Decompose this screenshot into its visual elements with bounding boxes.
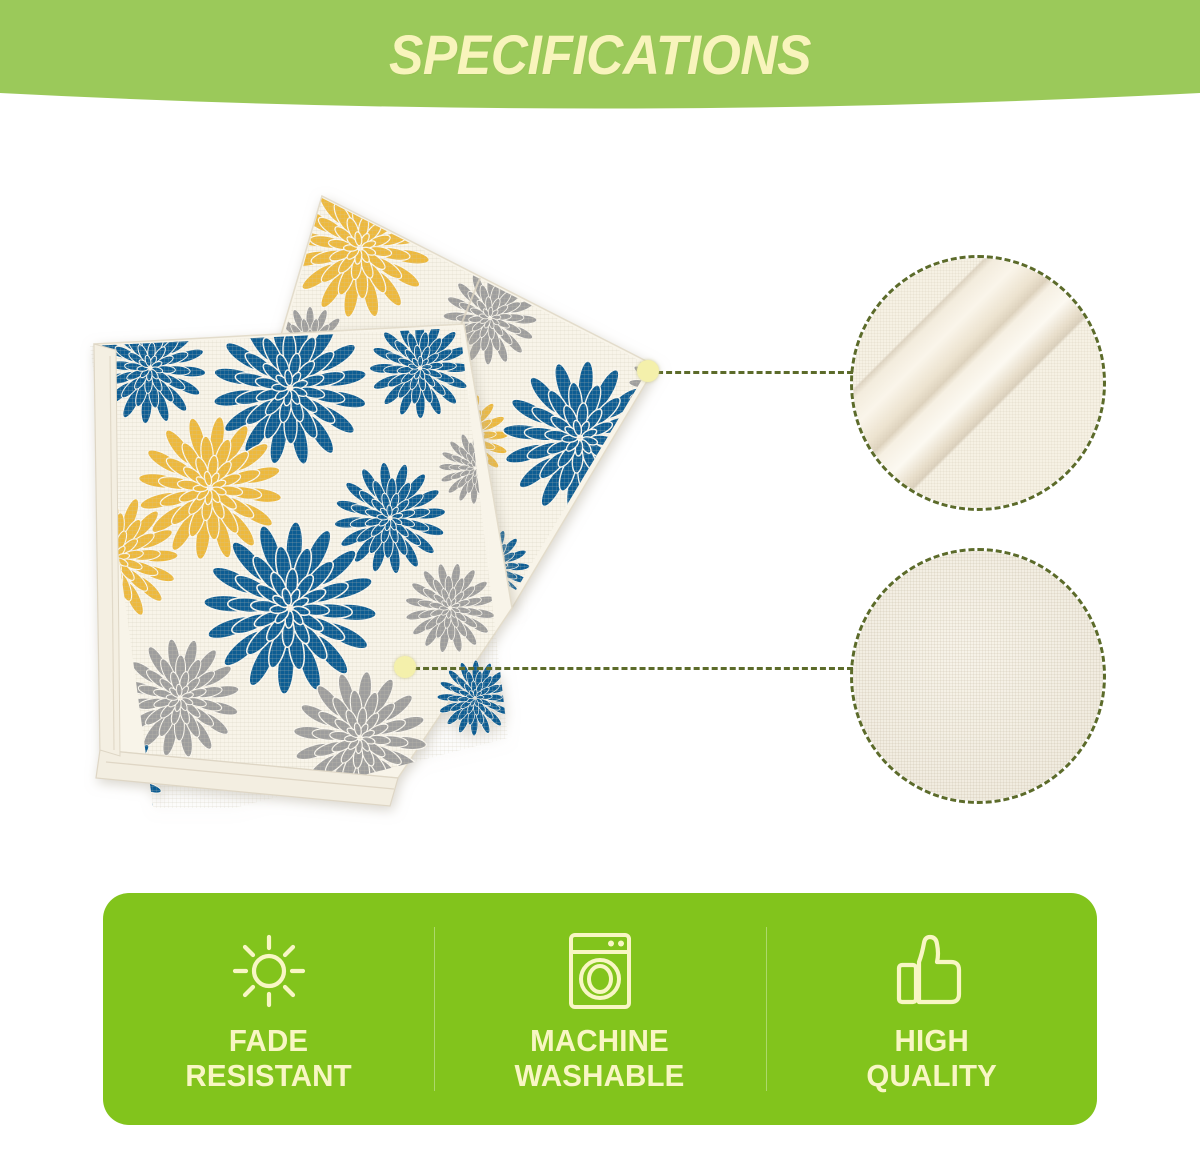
feature-panel: FADE RESISTANT MACHINE WASHABLE: [103, 893, 1097, 1125]
feature-label-line1: FADE: [185, 1024, 351, 1059]
product-photo-floral-towels: [60, 138, 760, 858]
callout-line-fabric: [405, 667, 853, 670]
header-banner: SPECIFICATIONS: [0, 0, 1200, 118]
washing-machine-icon: [567, 932, 633, 1010]
feature-label-line1: MACHINE: [515, 1024, 685, 1059]
callout-dot-hem: [637, 360, 659, 382]
feature-label-machine-washable: MACHINE WASHABLE: [515, 1024, 685, 1093]
page-title: SPECIFICATIONS: [48, 22, 1152, 87]
sun-icon: [230, 932, 308, 1010]
callout-line-hem: [648, 371, 853, 374]
detail-circle-fabric-weave: [850, 548, 1106, 804]
callout-dot-fabric: [394, 656, 416, 678]
feature-label-line2: QUALITY: [866, 1059, 997, 1094]
feature-high-quality: HIGH QUALITY: [766, 893, 1097, 1125]
feature-label-line2: WASHABLE: [515, 1059, 685, 1094]
feature-fade-resistant: FADE RESISTANT: [103, 893, 434, 1125]
thumbs-up-icon: [893, 932, 969, 1010]
fabric-weave-texture: [853, 551, 1103, 801]
feature-label-fade-resistant: FADE RESISTANT: [185, 1024, 351, 1093]
towel-front-layer: [60, 296, 540, 832]
hem-fabric-texture: [853, 258, 1103, 508]
feature-label-line1: HIGH: [866, 1024, 997, 1059]
feature-label-high-quality: HIGH QUALITY: [866, 1024, 997, 1093]
detail-circle-hem: [850, 255, 1106, 511]
feature-label-line2: RESISTANT: [185, 1059, 351, 1094]
feature-machine-washable: MACHINE WASHABLE: [434, 893, 765, 1125]
